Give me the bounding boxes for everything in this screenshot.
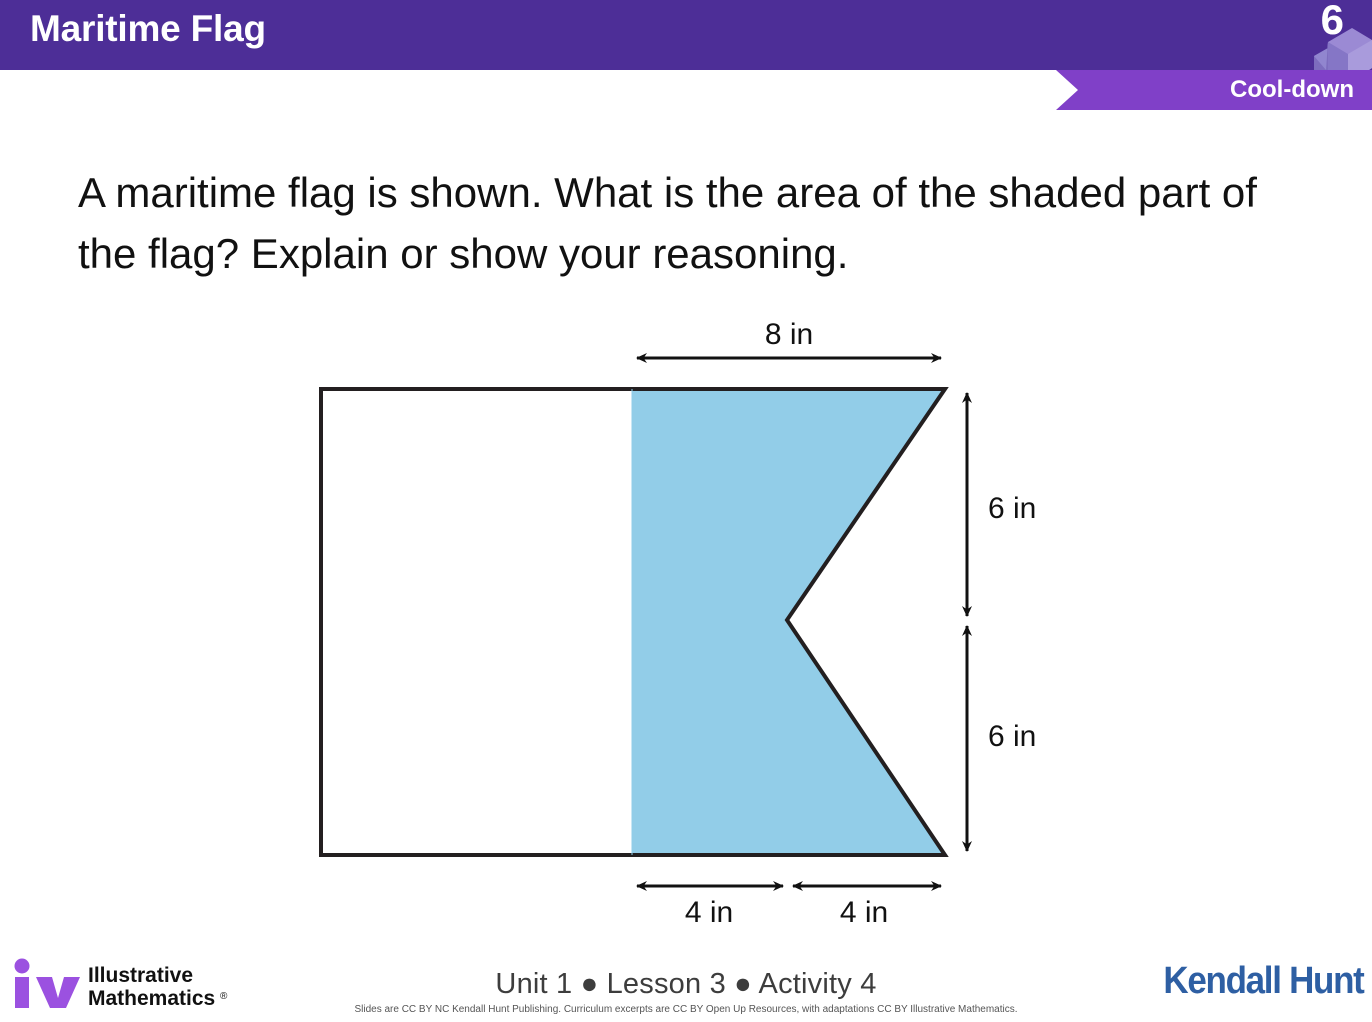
page-title: Maritime Flag — [30, 8, 266, 50]
slide-header: Maritime Flag 6 — [0, 0, 1372, 70]
slide-number-badge: 6 — [1321, 0, 1344, 44]
right-lower-label: 6 in — [988, 720, 1036, 753]
kendall-hunt-logo: Kendall Hunt — [1164, 960, 1364, 1003]
top-width-label: 8 in — [765, 318, 813, 351]
unshaded-region — [321, 389, 632, 855]
question-prompt: A maritime flag is shown. What is the ar… — [78, 163, 1293, 285]
ribbon-label: Cool-down — [1230, 76, 1372, 104]
right-upper-label: 6 in — [988, 492, 1036, 525]
slide-footer: Illustrative Mathematics ® Unit 1 ● Less… — [0, 946, 1372, 1022]
maritime-flag-diagram: 8 in 6 in 6 in 4 in 4 in — [0, 300, 1372, 940]
activity-type-ribbon: Cool-down — [1056, 70, 1372, 110]
copyright-credit: Slides are CC BY NC Kendall Hunt Publish… — [0, 1004, 1372, 1015]
slide-root: Maritime Flag 6 Cool-down A maritime fla… — [0, 0, 1372, 1022]
bottom-left-label: 4 in — [685, 896, 733, 929]
bottom-right-label: 4 in — [840, 896, 888, 929]
